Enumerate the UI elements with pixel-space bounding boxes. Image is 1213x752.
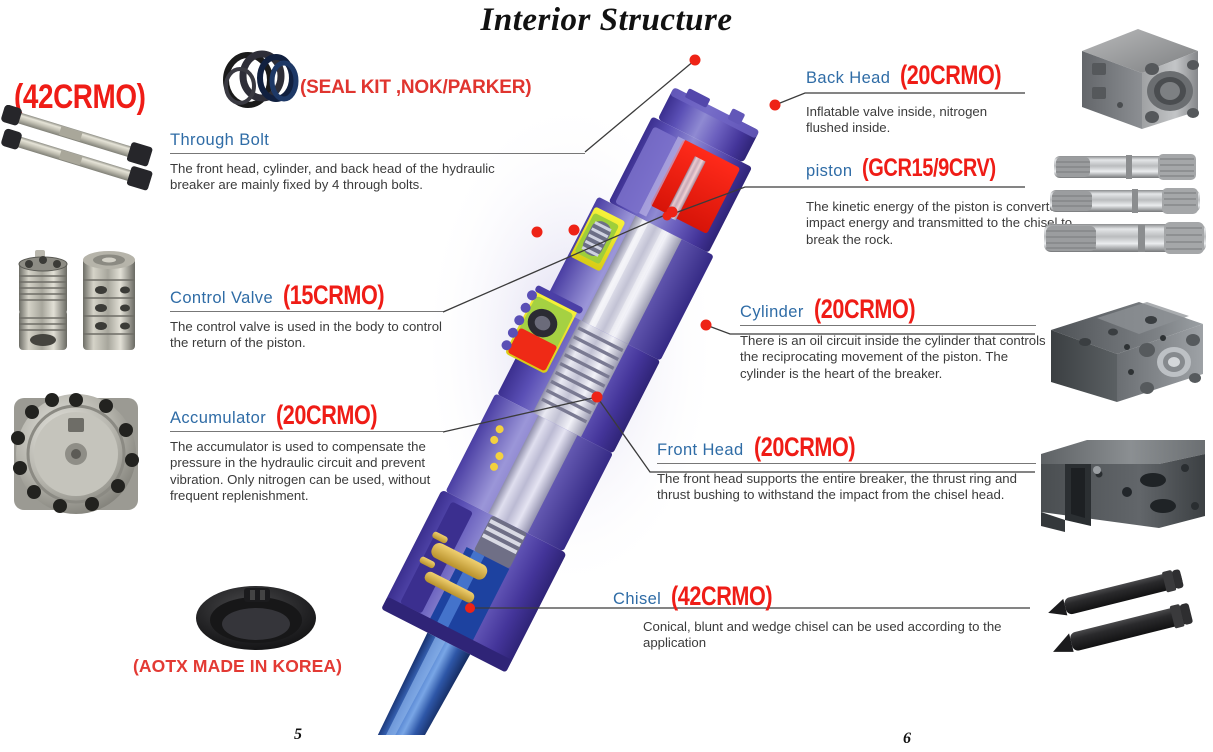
callout-body-chisel: Conical, blunt and wedge chisel can be u… [643,619,1023,652]
callout-title-accumulator: Accumulator [170,408,266,428]
callout-title-chisel: Chisel [613,589,661,609]
page-number-right: 6 [903,730,911,748]
callout-title-through-bolt: Through Bolt [170,130,269,150]
callout-body-through-bolt: The front head, cylinder, and back head … [170,161,520,194]
callout-accumulator: Accumulator (20CRMO) The accumulator is … [170,402,443,505]
seal-kit-caption: (SEAL KIT ,NOK/PARKER) [300,77,531,99]
callout-title-back-head: Back Head [806,68,890,88]
callout-title-front-head: Front Head [657,440,744,460]
callout-body-accumulator: The accumulator is used to compensate th… [170,439,470,505]
cylinder-photo [1043,290,1208,412]
callout-rule-front-head [657,463,1036,464]
callout-body-cylinder: There is an oil circuit inside the cylin… [740,333,1050,382]
callout-front-head: Front Head (20CRMO) The front head suppo… [657,434,1036,504]
page-title: Interior Structure [0,0,1213,40]
diaphragm-photo [188,578,324,652]
callout-through-bolt: Through Bolt The front head, cylinder, a… [170,130,585,194]
interior-structure-page: Interior Structure [0,0,1213,752]
callout-chisel: Chisel (42CRMO) Conical, blunt and wedge… [613,583,1031,652]
page-number-left: 5 [294,726,302,744]
callout-rule-cylinder [740,325,1036,326]
callout-piston: piston (GCR15/9CRV) The kinetic energy o… [806,155,1066,248]
callout-code-front-head: (20CRMO) [754,434,855,460]
callout-body-front-head: The front head supports the entire break… [657,471,1032,504]
front-head-photo [1035,430,1210,540]
callout-title-control-valve: Control Valve [170,288,273,308]
chisel-photo [1030,555,1210,665]
piston-photo [1040,150,1212,260]
callout-cylinder: Cylinder (20CRMO) There is an oil circui… [740,296,1036,382]
callout-rule-accumulator [170,431,443,432]
seal-kit-photo [218,48,310,110]
callout-rule-control-valve [170,311,443,312]
callout-rule-through-bolt [170,153,585,154]
callout-title-cylinder: Cylinder [740,302,804,322]
through-bolt-photo [0,105,175,200]
back-head-photo [1060,25,1200,133]
accumulator-photo [2,382,152,524]
callout-body-back-head: Inflatable valve inside, nitrogen flushe… [806,104,1021,137]
control-valve-photo [5,240,155,360]
callout-code-back-head: (20CRMO) [900,62,1001,88]
callout-code-control-valve: (15CRMO) [283,282,384,308]
callout-code-accumulator: (20CRMO) [276,402,377,428]
title-ghost-artifact [452,18,572,37]
callout-body-control-valve: The control valve is used in the body to… [170,319,460,352]
callout-code-chisel: (42CRMO) [671,583,772,609]
callout-code-piston: (GCR15/9CRV) [862,155,996,181]
callout-control-valve: Control Valve (15CRMO) The control valve… [170,282,443,352]
callout-back-head: Back Head (20CRMO) Inflatable valve insi… [806,62,1046,137]
callout-title-piston: piston [806,161,852,181]
callout-code-cylinder: (20CRMO) [814,296,915,322]
made-in-korea-caption: (AOTX MADE IN KOREA) [133,656,342,677]
